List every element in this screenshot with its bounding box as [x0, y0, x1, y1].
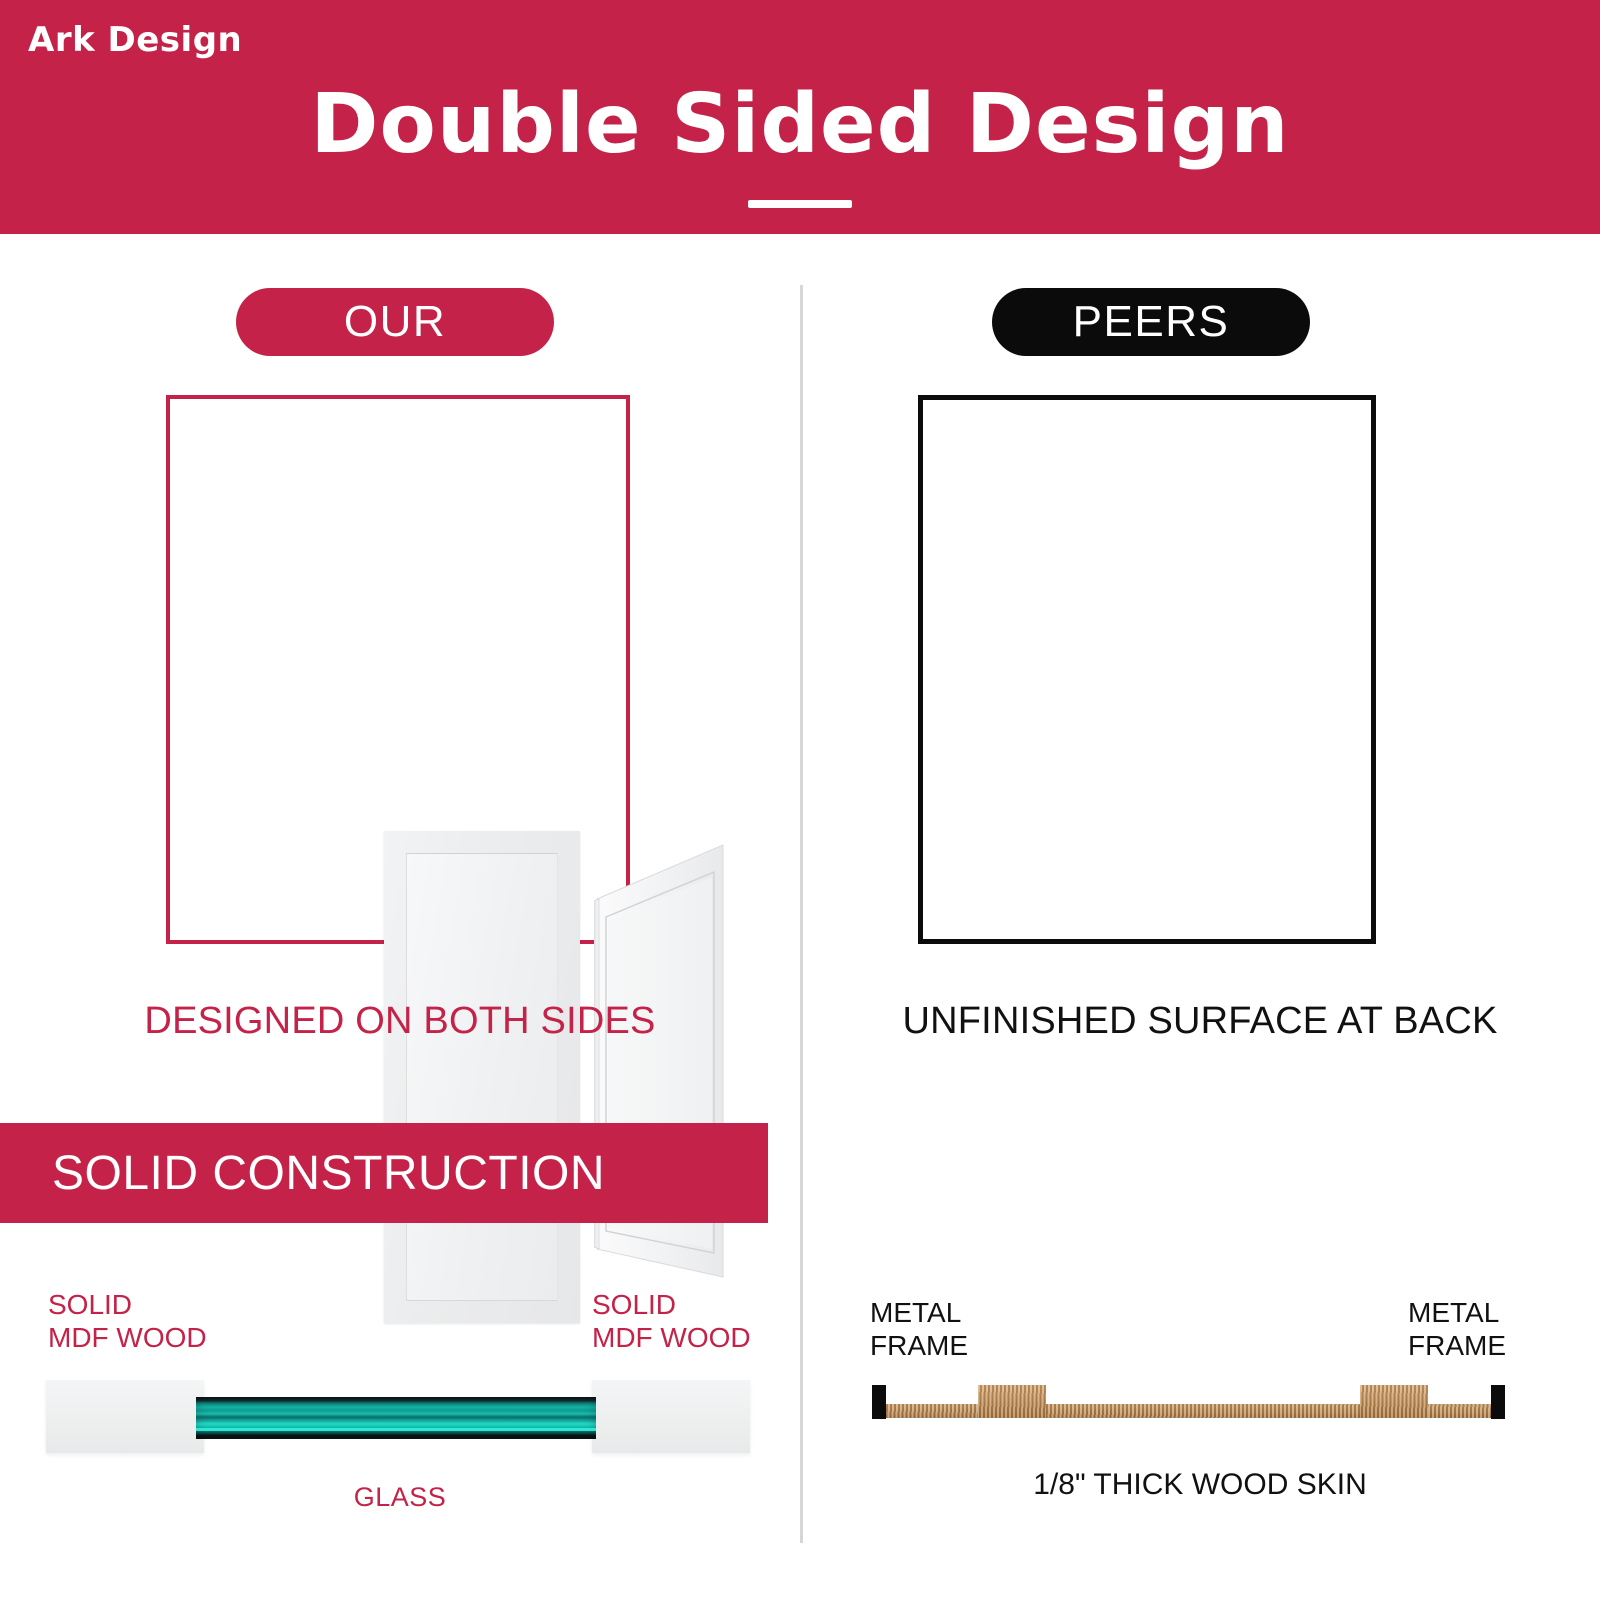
metal-frame-end-left — [872, 1385, 886, 1419]
badge-our: OUR — [236, 288, 554, 356]
our-angled-door-panel — [594, 839, 726, 1309]
header-banner: Ark Design Double Sided Design — [0, 0, 1600, 234]
label-solid-mdf-wood-right: SOLID MDF WOOD — [592, 1288, 751, 1354]
mdf-block-right — [592, 1380, 750, 1453]
mdf-block-left — [46, 1380, 204, 1453]
peers-illustration-frame — [918, 395, 1376, 944]
glass-highlight-line — [196, 1428, 596, 1431]
label-solid-mdf-wood-left: SOLID MDF WOOD — [48, 1288, 207, 1354]
badge-our-label: OUR — [344, 297, 446, 347]
column-divider — [800, 285, 803, 1543]
title-underline-divider — [748, 200, 852, 208]
label-glass: GLASS — [200, 1482, 600, 1513]
solid-construction-banner: SOLID CONSTRUCTION — [0, 1123, 768, 1223]
glass-core-strip — [196, 1397, 596, 1439]
metal-frame-end-right — [1491, 1385, 1505, 1419]
badge-peers-label: PEERS — [1073, 297, 1230, 347]
wood-skin-bump-left — [978, 1385, 1046, 1418]
our-illustration-frame — [166, 395, 630, 944]
wood-skin-bump-right — [1360, 1385, 1428, 1418]
label-metal-frame-right: METAL FRAME — [1408, 1296, 1506, 1362]
solid-construction-label: SOLID CONSTRUCTION — [52, 1146, 605, 1201]
our-caption: DESIGNED ON BOTH SIDES — [0, 1000, 800, 1043]
label-metal-frame-left: METAL FRAME — [870, 1296, 968, 1362]
peers-caption: UNFINISHED SURFACE AT BACK — [800, 1000, 1600, 1043]
brand-logo: Ark Design — [28, 20, 242, 60]
our-front-door-panel — [384, 831, 580, 1323]
our-front-door-inset-panel — [406, 853, 558, 1301]
badge-peers: PEERS — [992, 288, 1310, 356]
page-title: Double Sided Design — [0, 82, 1600, 168]
wood-skin-footnote: 1/8" THICK WOOD SKIN — [800, 1468, 1600, 1502]
